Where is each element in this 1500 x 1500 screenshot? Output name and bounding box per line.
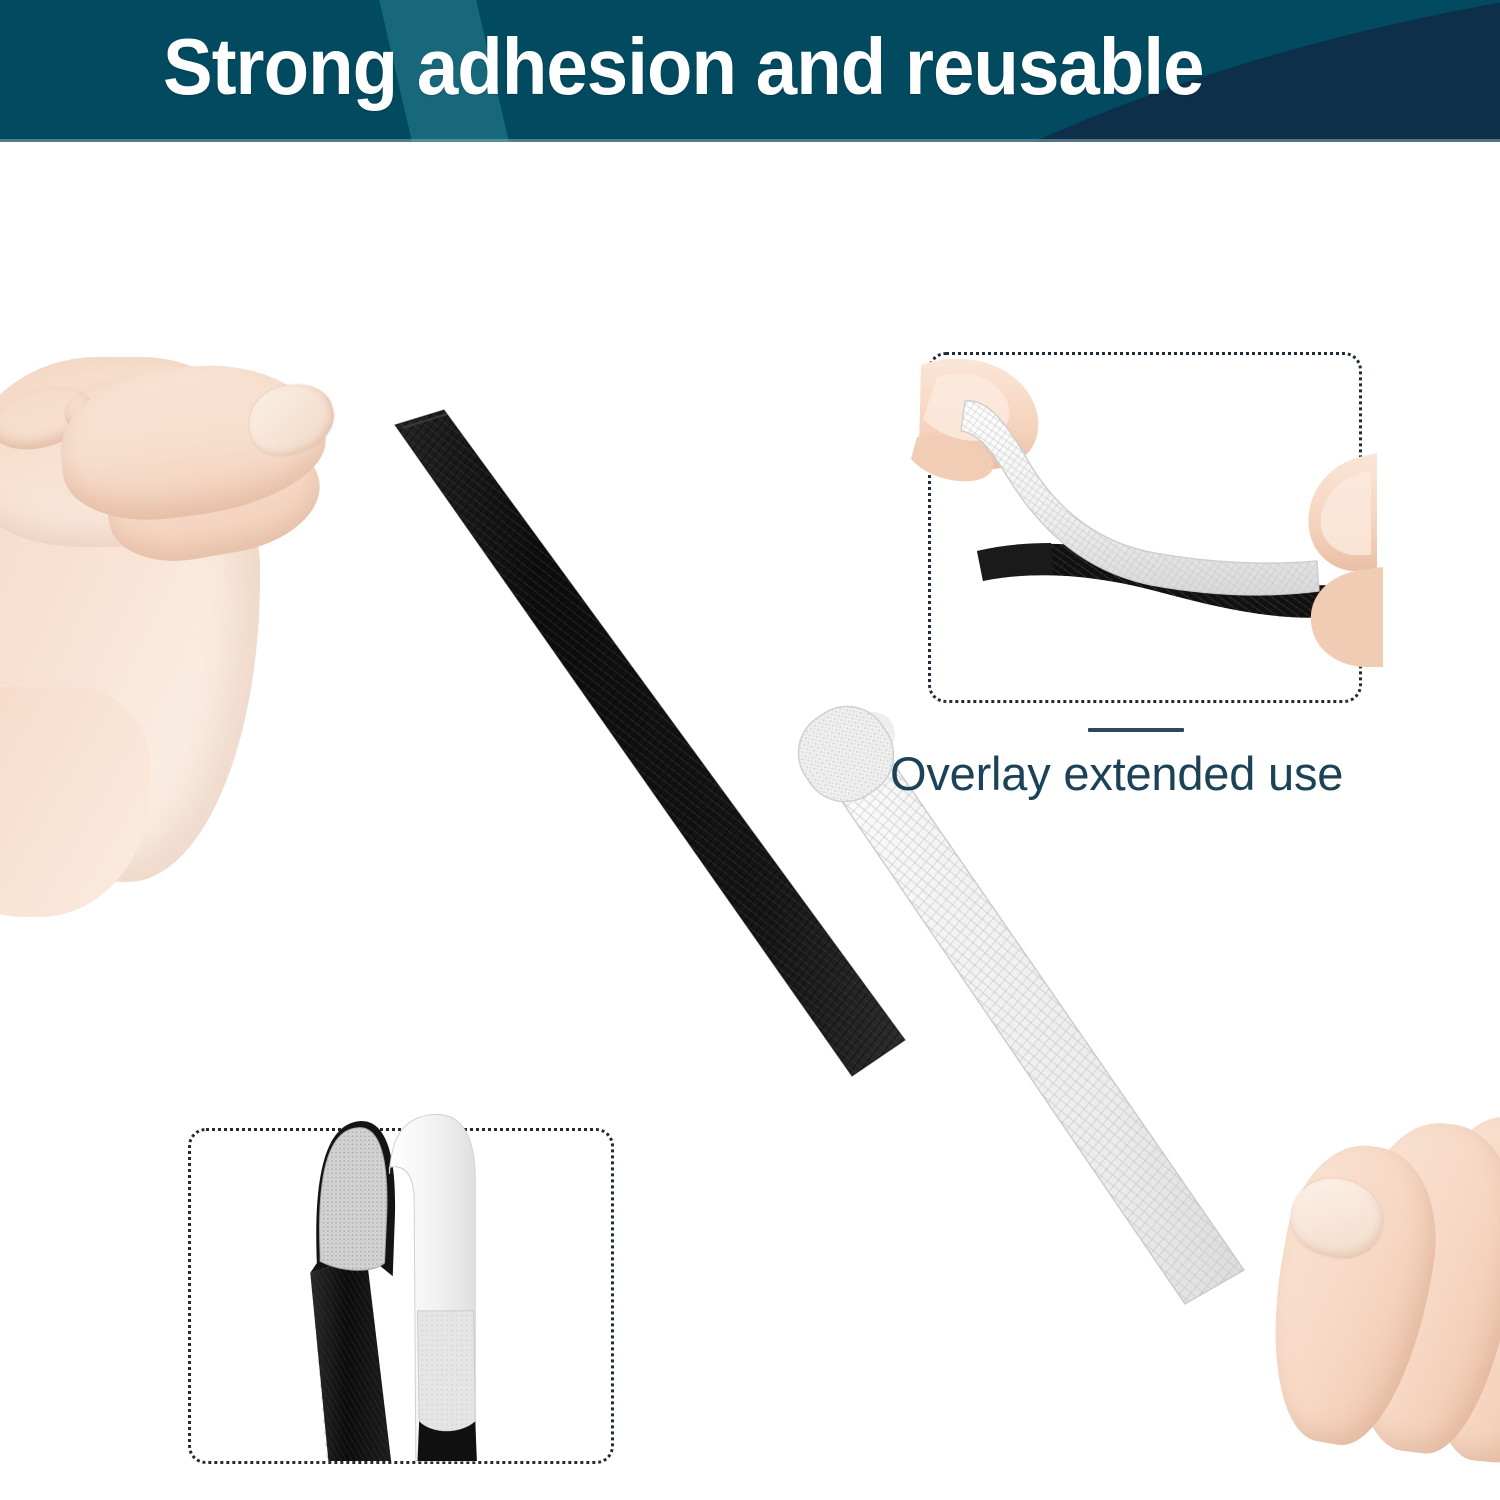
header-banner: Strong adhesion and reusable [0,0,1500,142]
callout-not-easy-to-fall-off [188,1128,614,1464]
caption-label: Overlay extended use [890,744,1343,804]
left-hand-wrist [0,687,150,917]
callout-fall-loop-patch [418,1311,477,1461]
caption-rule [1088,728,1184,732]
callout-fall-off-image [191,1131,611,1461]
callout-fall-black-strip [302,1247,409,1470]
callout-fall-hook-patch [310,1121,395,1276]
right-hand [1255,1117,1500,1500]
product-feature-image: Strong adhesion and reusable [0,0,1500,1500]
left-hand [0,327,400,887]
caption-overlay-extended-use: Overlay extended use [890,728,1343,804]
page-title: Strong adhesion and reusable [163,12,1204,122]
strap-black-segment [380,397,920,1097]
callout-overlay-right-fingers [1308,453,1383,667]
callout-overlay-extended-use [928,352,1362,703]
hero-product-photo: Overlay extended use Not wasy to fall of… [0,142,1500,1500]
callout-overlay-image [931,355,1359,700]
